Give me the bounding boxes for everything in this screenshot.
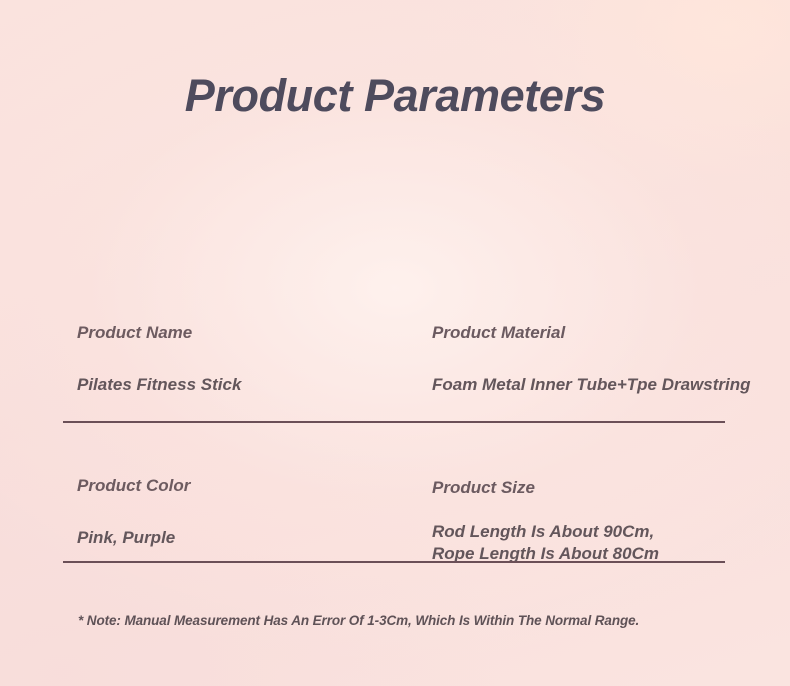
spec-value-line: Pilates Fitness Stick — [77, 374, 427, 396]
spec-label: Product Name — [77, 322, 427, 344]
spec-label: Product Color — [77, 475, 427, 497]
spec-value: Pilates Fitness Stick — [77, 374, 427, 396]
measurement-note: * Note: Manual Measurement Has An Error … — [78, 613, 639, 628]
spec-label: Product Material — [432, 322, 787, 344]
spec-value: Pink, Purple — [77, 527, 427, 549]
spec-table: Product Name Pilates Fitness Stick Produ… — [0, 0, 790, 686]
row-divider — [63, 421, 725, 423]
spec-value: Rod Length Is About 90Cm, Rope Length Is… — [432, 521, 787, 565]
product-parameters-panel: Product Parameters Product Name Pilates … — [0, 0, 790, 686]
spec-cell-product-material: Product Material Foam Metal Inner Tube+T… — [432, 322, 787, 396]
spec-cell-product-size: Product Size Rod Length Is About 90Cm, R… — [432, 475, 787, 565]
spec-value-line: Rod Length Is About 90Cm, — [432, 521, 787, 543]
spec-cell-product-name: Product Name Pilates Fitness Stick — [77, 322, 427, 396]
row-divider — [63, 561, 725, 563]
spec-value: Foam Metal Inner Tube+Tpe Drawstring — [432, 374, 787, 396]
spec-value-line: Pink, Purple — [77, 527, 427, 549]
spec-cell-product-color: Product Color Pink, Purple — [77, 475, 427, 549]
spec-value-line: Foam Metal Inner Tube+Tpe Drawstring — [432, 374, 787, 396]
spec-label: Product Size — [432, 477, 787, 499]
